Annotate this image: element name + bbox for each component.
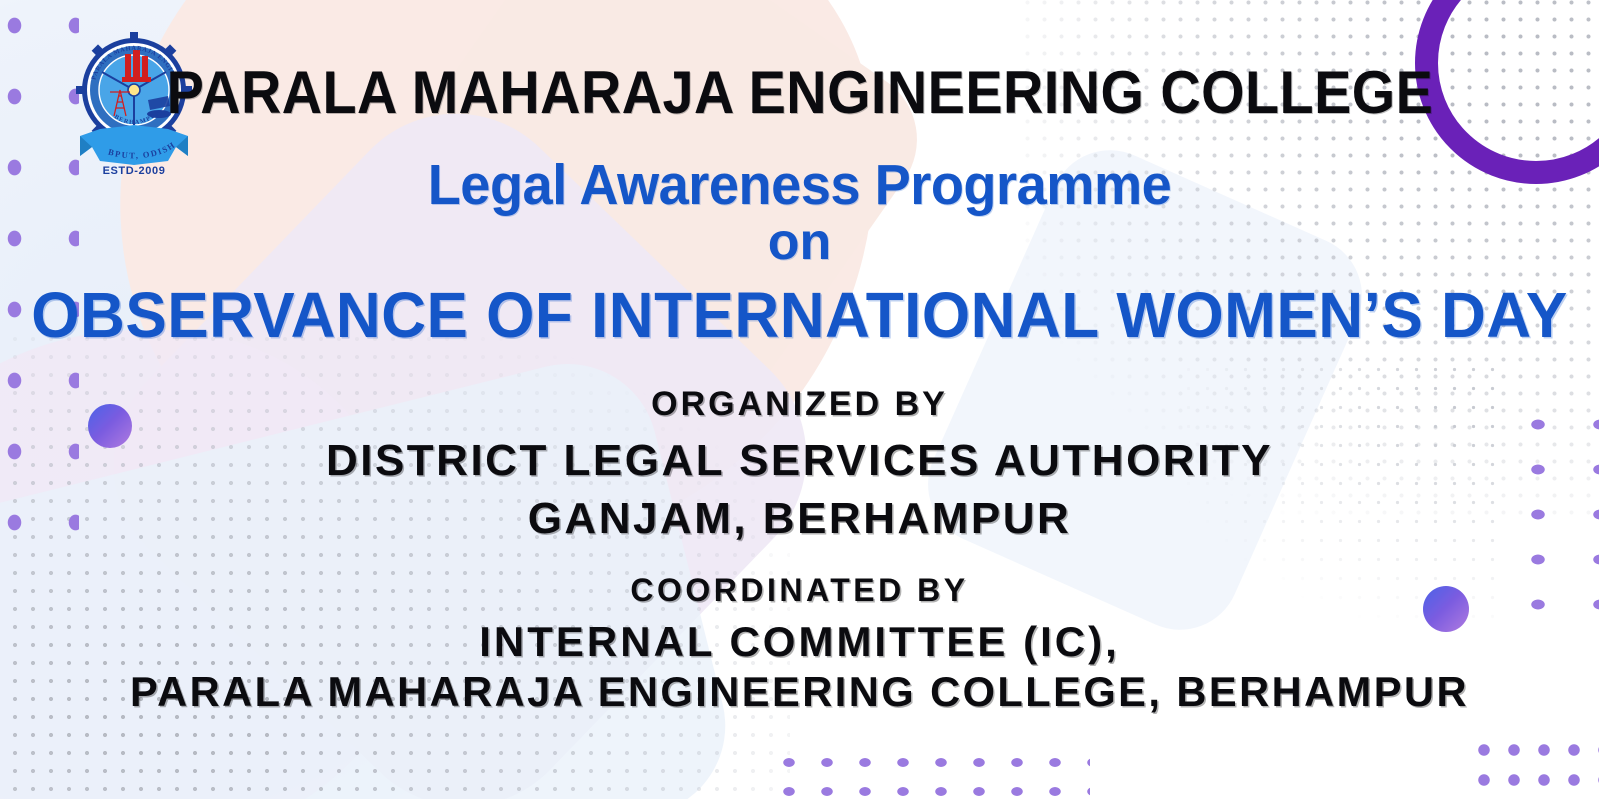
programme-subject: OBSERVANCE OF INTERNATIONAL WOMEN’S DAY bbox=[24, 278, 1575, 352]
coordinating-institution: PARALA MAHARAJA ENGINEERING COLLEGE, BER… bbox=[8, 668, 1591, 716]
organized-by-label: ORGANIZED BY bbox=[0, 385, 1599, 424]
coordinating-committee: INTERNAL COMMITTEE (IC), bbox=[0, 618, 1599, 666]
programme-connector: on bbox=[0, 212, 1599, 272]
coordinated-by-label: COORDINATED BY bbox=[0, 572, 1599, 609]
programme-title: Legal Awareness Programme bbox=[40, 152, 1559, 218]
organizing-authority-location: GANJAM, BERHAMPUR bbox=[0, 494, 1599, 544]
event-banner: PARALA MAHARAJA ENGINEERING COLLEGE BERH… bbox=[0, 0, 1599, 799]
college-name-row: PARALA MAHARAJA ENGINEERING COLLEGE bbox=[0, 58, 1599, 127]
organizing-authority: DISTRICT LEGAL SERVICES AUTHORITY bbox=[0, 436, 1599, 486]
banner-content: PARALA MAHARAJA ENGINEERING COLLEGE BERH… bbox=[0, 0, 1599, 799]
college-name-heading: PARALA MAHARAJA ENGINEERING COLLEGE bbox=[166, 58, 1433, 127]
